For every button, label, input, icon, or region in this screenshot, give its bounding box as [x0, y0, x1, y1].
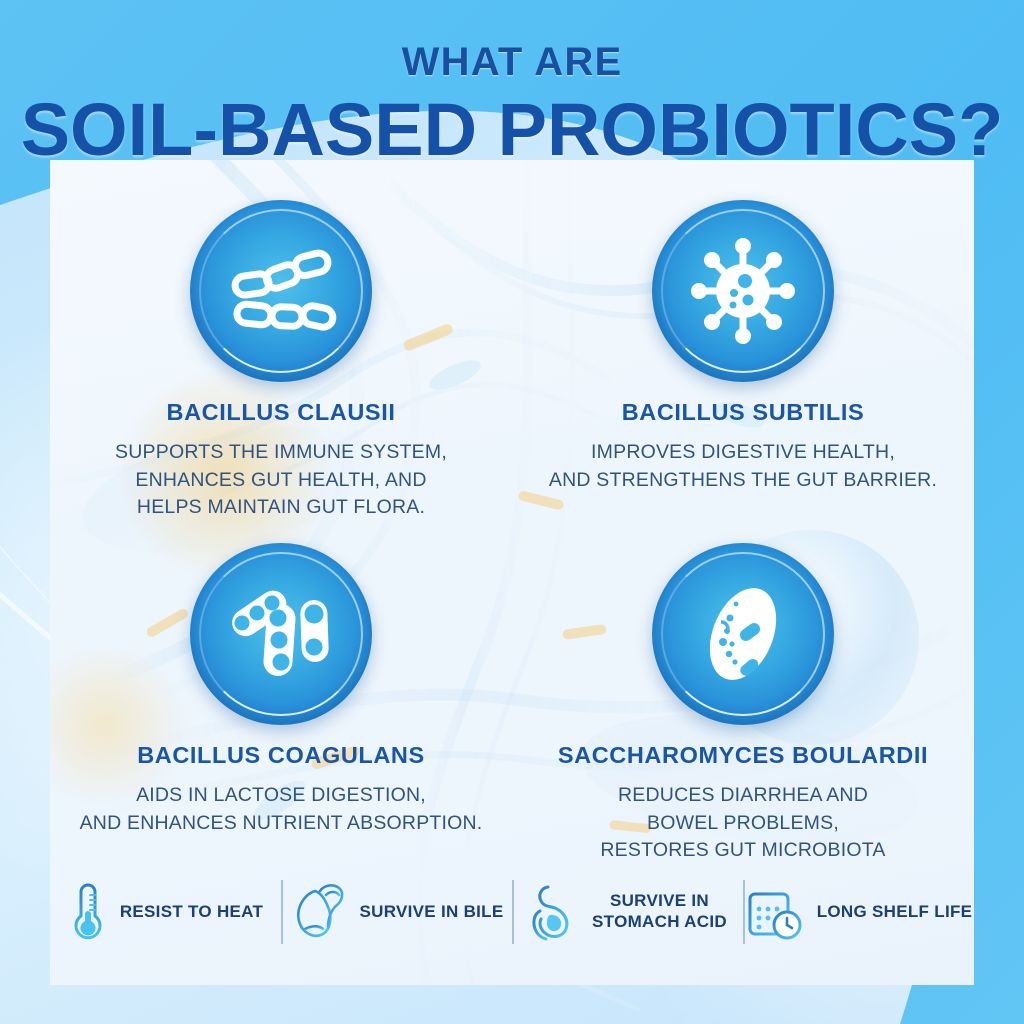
title-block: WHAT ARE SOIL-BASED PROBIOTICS? [0, 0, 1024, 167]
stomach-icon [528, 881, 580, 943]
feature-label: SURVIVE IN STOMACH ACID [592, 891, 727, 932]
spore-forming-rods-icon [221, 574, 341, 694]
thermometer-icon [68, 881, 108, 943]
species-icon-badge [652, 543, 834, 725]
species-description: REDUCES DIARRHEA AND BOWEL PROBLEMS, RES… [600, 782, 885, 865]
species-description: AIDS IN LACTOSE DIGESTION, AND ENHANCES … [80, 782, 483, 837]
feature-item-long-shelf-life[interactable]: LONG SHELF LIFE [743, 876, 974, 948]
feature-item-survive-in-bile[interactable]: SURVIVE IN BILE [281, 876, 512, 948]
feature-label-line: STOMACH ACID [592, 912, 727, 931]
species-desc-line: HELPS MAINTAIN GUT FLORA. [115, 494, 447, 522]
species-card[interactable]: BACILLUS COAGULANS AIDS IN LACTOSE DIGES… [50, 525, 512, 870]
species-name: BACILLUS SUBTILIS [622, 399, 865, 426]
feature-label: RESIST TO HEAT [120, 902, 263, 923]
feature-label-line: RESIST TO HEAT [120, 902, 263, 921]
page-title: SOIL-BASED PROBIOTICS? [0, 94, 1024, 167]
microbe-radial-icon [683, 231, 803, 351]
species-grid: BACILLUS CLAUSII SUPPORTS THE IMMUNE SYS… [50, 180, 974, 870]
calendar-clock-icon [745, 883, 805, 941]
feature-item-survive-in-stomach-acid[interactable]: SURVIVE IN STOMACH ACID [512, 876, 743, 948]
feature-strip: RESIST TO HEAT [50, 868, 974, 956]
feature-label: SURVIVE IN BILE [360, 902, 504, 923]
species-description: IMPROVES DIGESTIVE HEALTH, AND STRENGTHE… [549, 439, 937, 494]
species-desc-line: RESTORES GUT MICROBIOTA [600, 837, 885, 865]
species-desc-line: BOWEL PROBLEMS, [600, 810, 885, 838]
species-desc-line: ENHANCES GUT HEALTH, AND [115, 467, 447, 495]
species-card[interactable]: BACILLUS SUBTILIS IMPROVES DIGESTIVE HEA… [512, 180, 974, 525]
species-card[interactable]: SACCHAROMYCES BOULARDII REDUCES DIARRHEA… [512, 525, 974, 870]
title-line-1: WHAT ARE [0, 42, 1024, 82]
species-desc-line: AIDS IN LACTOSE DIGESTION, [80, 782, 483, 810]
header: WHAT ARE SOIL-BASED PROBIOTICS? [0, 0, 1024, 178]
feature-item-resist-to-heat[interactable]: RESIST TO HEAT [50, 876, 281, 948]
feature-label: LONG SHELF LIFE [817, 902, 973, 923]
species-desc-line: AND ENHANCES NUTRIENT ABSORPTION. [80, 810, 483, 838]
feature-label-line: SURVIVE IN BILE [360, 902, 504, 921]
species-desc-line: AND STRENGTHENS THE GUT BARRIER. [549, 467, 937, 495]
species-desc-line: IMPROVES DIGESTIVE HEALTH, [549, 439, 937, 467]
species-icon-badge [190, 200, 372, 382]
species-icon-badge [652, 200, 834, 382]
gallbladder-icon [290, 881, 348, 943]
species-desc-line: REDUCES DIARRHEA AND [600, 782, 885, 810]
feature-label-line: SURVIVE IN [610, 891, 709, 910]
species-name: BACILLUS CLAUSII [167, 399, 396, 426]
species-name: BACILLUS COAGULANS [137, 742, 425, 769]
infographic-poster: WHAT ARE SOIL-BASED PROBIOTICS? [0, 0, 1024, 1024]
species-desc-line: SUPPORTS THE IMMUNE SYSTEM, [115, 439, 447, 467]
species-description: SUPPORTS THE IMMUNE SYSTEM, ENHANCES GUT… [115, 439, 447, 522]
bacteria-rod-chain-icon [221, 231, 341, 351]
species-name: SACCHAROMYCES BOULARDII [558, 742, 928, 769]
species-icon-badge [190, 543, 372, 725]
yeast-cell-icon [683, 574, 803, 694]
species-card[interactable]: BACILLUS CLAUSII SUPPORTS THE IMMUNE SYS… [50, 180, 512, 525]
feature-label-line: LONG SHELF LIFE [817, 902, 973, 921]
